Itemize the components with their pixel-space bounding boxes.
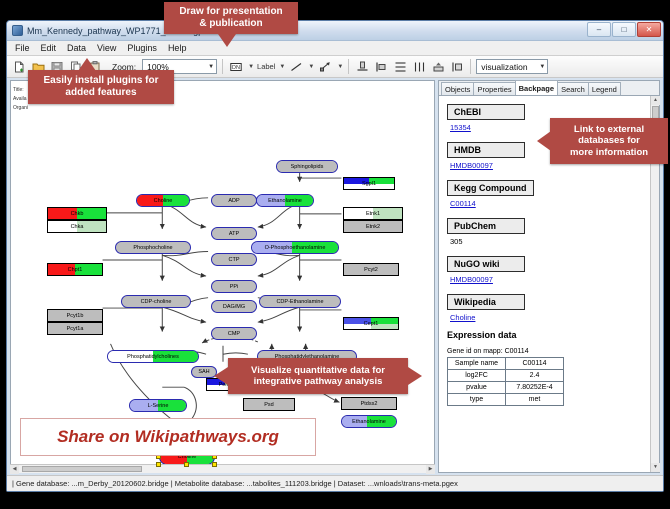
minimize-button[interactable]: – [587,22,611,37]
menu-bar: File Edit Data View Plugins Help [7,41,663,56]
maximize-button[interactable]: □ [612,22,636,37]
metabolite-node: L-Serine [129,399,187,412]
visualization-combo[interactable]: visualization ▼ [476,59,548,74]
callout-links-text: Link to external databases for more info… [570,124,648,158]
group-icon[interactable] [449,59,465,75]
canvas-horizontal-scrollbar[interactable]: ◀ ▶ [10,464,435,473]
node-label: Psd [264,402,273,408]
node-label: Ptdss2 [361,401,378,407]
gene-node: Pcyt1a [47,322,103,335]
resize-handle-sw[interactable] [156,462,161,467]
metabolite-node: CDP-Ethanolamine [259,295,341,308]
chevron-down-icon: ▼ [208,64,214,70]
table-row: pvalue 7.80252E-4 [448,382,564,394]
table-cell-value: 7.80252E-4 [506,382,564,394]
callout-links: Link to external databases for more info… [550,118,668,164]
callout-links-arrow-icon [537,131,551,151]
pathway-canvas[interactable]: Title: Availa Organi [10,80,435,473]
canvas-label-organism: Organi [13,105,28,111]
metabolite-node: PPi [211,280,257,293]
node-label: Cept1 [364,321,379,327]
gene-id-line: Gene id on mapp: C00114 [447,348,659,355]
backpage-link-kegg[interactable]: C00114 [450,199,659,208]
resize-handle-s[interactable] [184,462,189,467]
resize-handle-se[interactable] [212,462,217,467]
backpage-heading-kegg: Kegg Compound [447,180,534,196]
node-label: Choline [154,198,173,204]
gene-node: Chpt1 [47,263,103,276]
datanode-dropdown-icon[interactable]: ▼ [248,64,254,70]
node-label: DAG/MG [223,304,245,310]
share-banner: Share on Wikipathways.org [20,418,316,456]
menu-item-file[interactable]: File [13,43,32,53]
node-label: L-Serine [148,403,169,409]
menu-item-view[interactable]: View [95,43,118,53]
node-label: Chka [71,224,84,230]
node-label: Ethanolamine [352,419,386,425]
metabolite-node: Ethanolamine [341,415,397,428]
sidebar-tabs: Objects Properties Backpage Search Legen… [439,81,659,96]
callout-visualize-arrow-left-icon [214,367,228,385]
scroll-down-arrow-icon[interactable]: ▼ [651,463,660,472]
expression-data-title: Expression data [447,330,659,340]
node-label: Ethanolamine [268,198,302,204]
node-label: Etnk1 [366,211,380,217]
node-label: CDP-choline [141,299,172,305]
title-bar: Mm_Kennedy_pathway_WP1771_45176.gpml – □… [7,21,663,41]
backpage-heading-nugowiki: NuGO wiki [447,256,525,272]
label-tool-label[interactable]: Label [257,62,275,71]
align-left-icon[interactable] [373,59,389,75]
node-label: Sgpl1 [362,181,376,187]
svg-text:DN: DN [232,65,240,71]
tab-search[interactable]: Search [557,82,589,95]
interaction-dropdown-icon[interactable]: ▼ [337,64,343,70]
table-cell-key: log2FC [448,370,506,382]
gene-node: Chkb [47,207,107,220]
callout-draw-text: Draw for presentation & publication [179,6,282,30]
node-label: SAH [198,369,209,375]
share-banner-text: Share on Wikipathways.org [57,427,279,447]
label-dropdown-icon[interactable]: ▼ [279,64,285,70]
gene-node: Etnk2 [343,220,403,233]
close-button[interactable]: ✕ [637,22,661,37]
pathway-drawing[interactable]: Title: Availa Organi [11,81,434,472]
canvas-label-availability: Availa [13,96,27,102]
node-label: ADP [228,198,239,204]
gene-node: Chka [47,220,107,233]
stack-icon[interactable] [430,59,446,75]
app-icon [12,25,23,36]
menu-item-help[interactable]: Help [166,43,189,53]
toolbar-separator-2 [348,59,349,74]
callout-plugins-text: Easily install plugins for added feature… [43,75,158,99]
tab-objects[interactable]: Objects [441,82,474,95]
gene-node: Pcyt1b [47,309,103,322]
table-row: Sample name C00114 [448,358,564,370]
metabolite-node: CMP [211,327,257,340]
metabolite-node: O-Phosphoethanolamine [251,241,339,254]
metabolite-node: Choline [136,194,190,207]
metabolite-node: ADP [211,194,257,207]
metabolite-node: Phosphatidylcholines [107,350,199,363]
canvas-label-title: Title: [13,87,24,93]
metabolite-node: Sphingolipids [276,160,338,173]
chevron-down-icon-2: ▼ [539,64,545,70]
new-file-icon[interactable] [11,59,27,75]
pathway-edges [11,81,434,472]
node-label: ATP [229,231,239,237]
node-label: Phosphatidylcholines [127,354,179,360]
callout-draw: Draw for presentation & publication [164,2,298,34]
metabolite-node: Phosphocholine [115,241,191,254]
node-label: PPi [230,284,239,290]
table-cell-value: met [506,394,564,406]
callout-visualize-text: Visualize quantitative data for integrat… [251,365,385,388]
backpage-heading-wikipedia: Wikipedia [447,294,525,310]
gene-node: Cept1 [343,317,399,330]
visualization-value: visualization [481,62,527,72]
table-cell-key: Sample name [448,358,506,370]
callout-draw-arrow-icon [218,34,236,47]
status-text: | Gene database: ...m_Derby_20120602.bri… [12,479,458,488]
backpage-value-pubchem: 305 [450,237,659,246]
metabolite-node: ATP [211,227,257,240]
menu-item-edit[interactable]: Edit [39,43,59,53]
distribute-horizontal-icon[interactable] [411,59,427,75]
tab-legend[interactable]: Legend [588,82,621,95]
interaction-icon[interactable] [317,59,333,75]
gene-node: Etnk1 [343,207,403,220]
scroll-left-arrow-icon[interactable]: ◀ [10,465,19,474]
callout-visualize: Visualize quantitative data for integrat… [228,358,408,394]
node-label: Pcyt2 [364,267,378,273]
node-label: Pcyt1a [67,326,84,332]
expression-table: Sample name C00114 log2FC 2.4 pvalue 7.8… [447,357,564,406]
menu-item-data[interactable]: Data [65,43,88,53]
node-label: Etnk2 [366,224,380,230]
align-bottom-icon[interactable] [354,59,370,75]
status-bar: | Gene database: ...m_Derby_20120602.bri… [7,475,663,491]
gene-node: Pcyt2 [343,263,399,276]
callout-plugins: Easily install plugins for added feature… [28,70,174,104]
backpage-heading-chebi: ChEBI [447,104,525,120]
screenshot-root: Mm_Kennedy_pathway_WP1771_45176.gpml – □… [0,0,670,509]
node-label: Sphingolipids [291,164,324,170]
node-label: Pcyt1b [67,313,84,319]
table-cell-key: type [448,394,506,406]
window-controls: – □ ✕ [587,22,661,37]
menu-item-plugins[interactable]: Plugins [125,43,159,53]
node-label: O-Phosphoethanolamine [265,245,326,251]
backpage-link-nugowiki[interactable]: HMDB00097 [450,275,659,284]
backpage-heading-hmdb: HMDB [447,142,525,158]
metabolite-node: CDP-choline [121,295,191,308]
metabolite-node: Ethanolamine [256,194,314,207]
node-label: Chkb [71,211,84,217]
table-cell-key: pvalue [448,382,506,394]
line-dropdown-icon[interactable]: ▼ [308,64,314,70]
line-icon[interactable] [288,59,304,75]
tab-backpage[interactable]: Backpage [515,80,558,95]
gene-node: Ptdss2 [341,397,397,410]
toolbar-separator [222,59,223,74]
table-cell-value: 2.4 [506,370,564,382]
scroll-up-arrow-icon[interactable]: ▲ [651,96,660,105]
node-label: CDP-Ethanolamine [276,299,323,305]
scroll-right-arrow-icon[interactable]: ▶ [426,465,435,474]
gene-node: Sgpl1 [343,177,395,190]
node-label: Chpt1 [68,267,83,273]
callout-plugins-arrow-icon [78,58,96,71]
backpage-link-wikipedia[interactable]: Choline [450,313,659,322]
node-label: CTP [229,257,240,263]
distribute-vertical-icon[interactable] [392,59,408,75]
datanode-icon[interactable]: DN [228,59,244,75]
metabolite-node: CTP [211,253,257,266]
scroll-thumb-h[interactable] [22,466,142,472]
backpage-heading-pubchem: PubChem [447,218,525,234]
callout-visualize-arrow-right-icon [408,367,422,385]
metabolite-node: DAG/MG [211,300,257,313]
table-row: log2FC 2.4 [448,370,564,382]
gene-node: Psd [243,398,295,411]
table-cell-value: C00114 [506,358,564,370]
tab-properties[interactable]: Properties [473,82,515,95]
node-label: CMP [228,331,240,337]
node-label: Phosphocholine [133,245,172,251]
toolbar-separator-3 [470,59,471,74]
table-row: type met [448,394,564,406]
